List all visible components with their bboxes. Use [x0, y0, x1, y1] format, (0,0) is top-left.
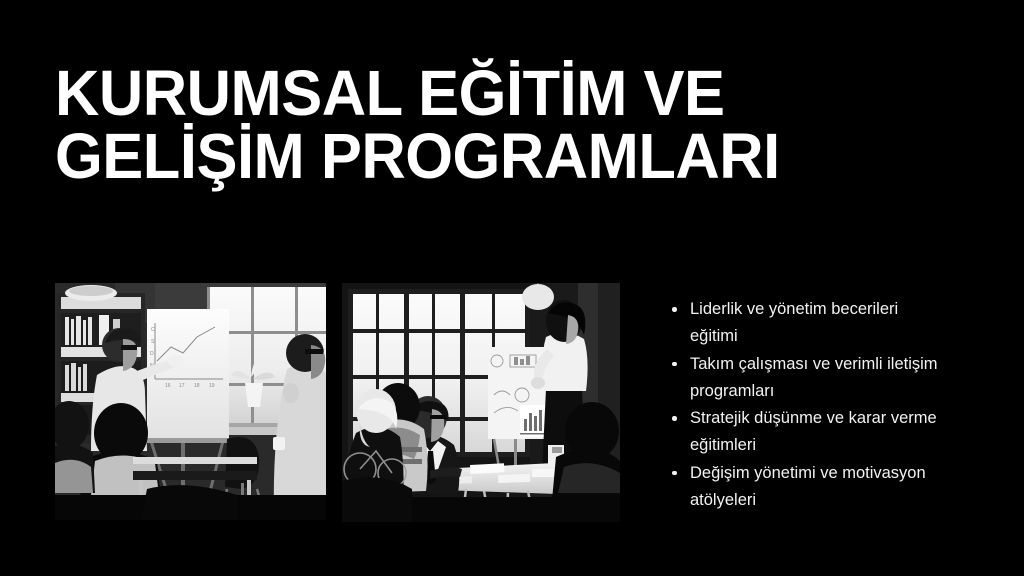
page-title: KURUMSAL EĞİTİM VE GELİŞİM PROGRAMLARI — [55, 62, 955, 188]
photo-flipchart-presentation-graphic: C S D N 16 17 18 19 — [55, 283, 326, 520]
bullet-dot-icon — [672, 362, 677, 367]
photo-flipchart-presentation: C S D N 16 17 18 19 — [55, 283, 326, 520]
svg-text:17: 17 — [179, 383, 185, 389]
list-item-label: Liderlik ve yönetim becerileri eğitimi — [690, 300, 898, 345]
presentation-slide: KURUMSAL EĞİTİM VE GELİŞİM PROGRAMLARI — [0, 0, 1024, 576]
photo-boardroom-meeting-graphic — [342, 283, 620, 522]
bullet-dot-icon — [672, 307, 677, 312]
svg-text:16: 16 — [165, 383, 171, 389]
bullet-dot-icon — [672, 471, 677, 476]
svg-text:C: C — [151, 327, 155, 333]
list-item: Stratejik düşünme ve karar verme eğitiml… — [668, 405, 946, 459]
list-item-label: Değişim yönetimi ve motivasyon atölyeler… — [690, 464, 926, 509]
list-item: Takım çalışması ve verimli iletişim prog… — [668, 351, 946, 405]
svg-text:18: 18 — [194, 383, 200, 389]
svg-text:19: 19 — [209, 383, 215, 389]
page-title-line-1: KURUMSAL EĞİTİM VE — [55, 62, 919, 125]
svg-text:D: D — [150, 351, 154, 357]
list-item: Değişim yönetimi ve motivasyon atölyeler… — [668, 460, 946, 514]
feature-bullet-list: Liderlik ve yönetim becerileri eğitimi T… — [668, 296, 946, 514]
page-title-line-2: GELİŞİM PROGRAMLARI — [55, 125, 919, 188]
bullet-dot-icon — [672, 416, 677, 421]
list-item: Liderlik ve yönetim becerileri eğitimi — [668, 296, 946, 350]
photo-boardroom-meeting — [342, 283, 620, 522]
list-item-label: Stratejik düşünme ve karar verme eğitiml… — [690, 409, 937, 454]
list-item-label: Takım çalışması ve verimli iletişim prog… — [690, 355, 938, 400]
